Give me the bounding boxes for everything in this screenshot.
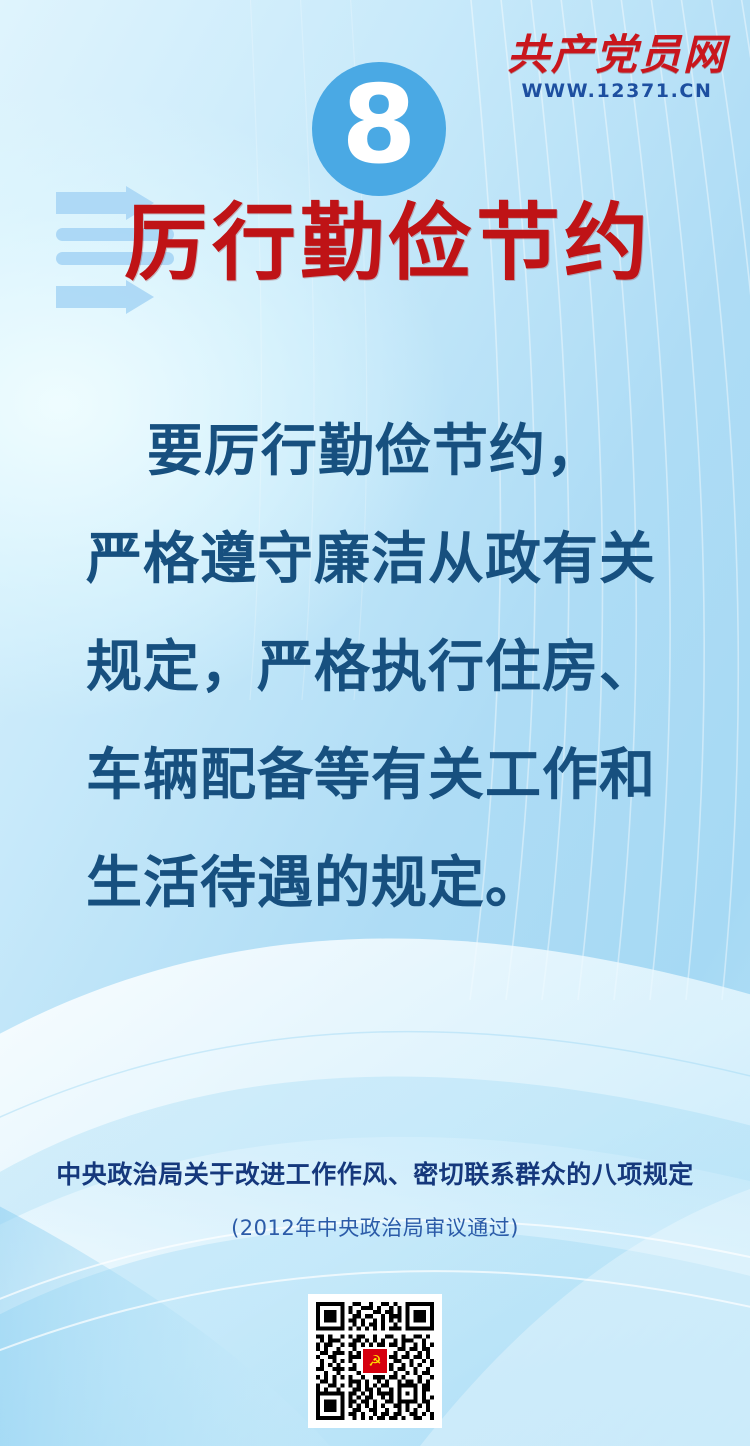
footer-regulation-subtitle: (2012年中央政治局审议通过) bbox=[0, 1212, 750, 1242]
site-logo-wordmark: 共产党员网 bbox=[506, 34, 728, 76]
party-emblem-glyph: ☭ bbox=[368, 1354, 381, 1369]
site-logo[interactable]: 共产党员网 WWW.12371.CN bbox=[506, 34, 728, 101]
number-badge: 8 bbox=[312, 62, 446, 196]
qr-code-icon[interactable]: ☭ bbox=[308, 1294, 442, 1428]
site-logo-url: WWW.12371.CN bbox=[506, 82, 728, 101]
footer-regulation-title: 中央政治局关于改进工作作风、密切联系群众的八项规定 bbox=[0, 1155, 750, 1191]
party-emblem-icon: ☭ bbox=[361, 1347, 389, 1375]
body-copy: 要厉行勤俭节约， 严格遵守廉洁从政有关 规定，严格执行住房、 车辆配备等有关工作… bbox=[0, 398, 750, 938]
body-line: 严格遵守廉洁从政有关 bbox=[86, 506, 664, 614]
body-line: 规定，严格执行住房、 bbox=[86, 614, 664, 722]
page-title: 厉行勤俭节约 bbox=[124, 196, 652, 290]
body-line: 生活待遇的规定。 bbox=[86, 830, 664, 938]
body-line: 车辆配备等有关工作和 bbox=[86, 722, 664, 830]
body-line: 要厉行勤俭节约， bbox=[86, 398, 664, 506]
number-badge-value: 8 bbox=[341, 72, 416, 180]
poster-canvas: 共产党员网 WWW.12371.CN 8 厉行勤俭节约 要厉行勤俭节约， 严格遵… bbox=[0, 0, 750, 1446]
